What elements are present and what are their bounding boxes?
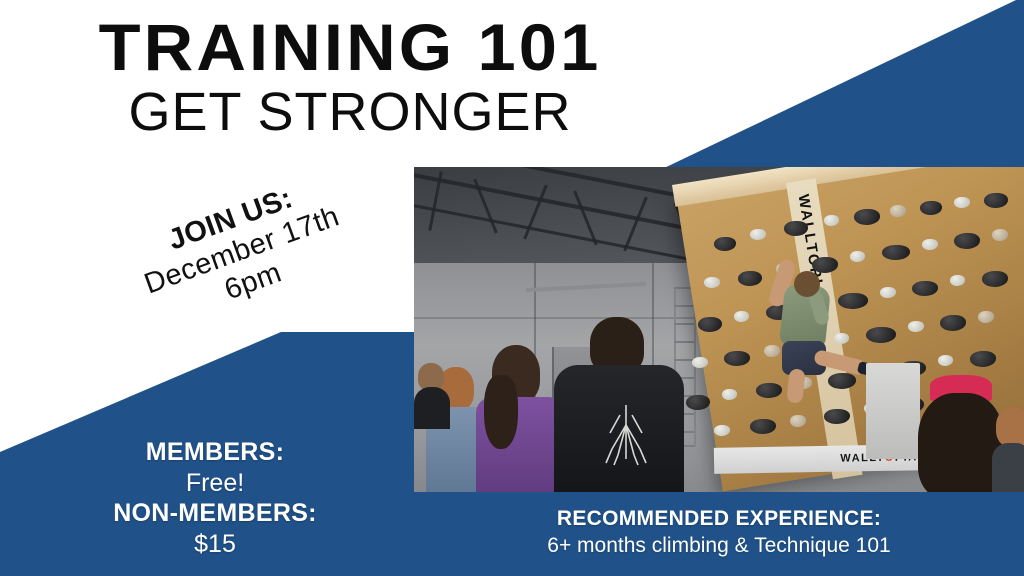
pricing-block: MEMBERS: Free! NON-MEMBERS: $15 bbox=[55, 437, 375, 559]
headline-block: TRAINING 101 GET STRONGER bbox=[0, 14, 700, 139]
spectator-black-tshirt bbox=[554, 317, 684, 492]
spectator-body bbox=[992, 443, 1024, 492]
climber-on-board bbox=[758, 251, 878, 401]
recommended-label: RECOMMENDED EXPERIENCE: bbox=[414, 506, 1024, 533]
non-members-label: NON-MEMBERS: bbox=[55, 498, 375, 529]
spectator-body bbox=[414, 387, 450, 429]
climbing-gym-photo: WALLTOPIA bbox=[414, 167, 1024, 492]
tshirt-root-graphic bbox=[598, 403, 654, 467]
spectator-background bbox=[414, 363, 450, 429]
join-us-block: JOIN US: December 17th 6pm bbox=[108, 162, 377, 340]
spectator-far-right bbox=[992, 407, 1024, 492]
climber-leg bbox=[786, 368, 805, 403]
members-label: MEMBERS: bbox=[55, 437, 375, 468]
recommended-detail: 6+ months climbing & Technique 101 bbox=[414, 533, 1024, 560]
page-title: TRAINING 101 bbox=[0, 14, 714, 81]
page-subtitle: GET STRONGER bbox=[0, 85, 700, 139]
recommended-experience-block: RECOMMENDED EXPERIENCE: 6+ months climbi… bbox=[414, 506, 1024, 560]
training-101-flyer: WALLTOPIA bbox=[0, 0, 1024, 576]
spectator-hair bbox=[484, 375, 518, 449]
climber-head bbox=[794, 271, 820, 297]
spectator-purple-tank bbox=[476, 345, 564, 492]
non-members-price: $15 bbox=[55, 529, 375, 560]
spectator-head bbox=[996, 407, 1024, 447]
members-price: Free! bbox=[55, 468, 375, 499]
